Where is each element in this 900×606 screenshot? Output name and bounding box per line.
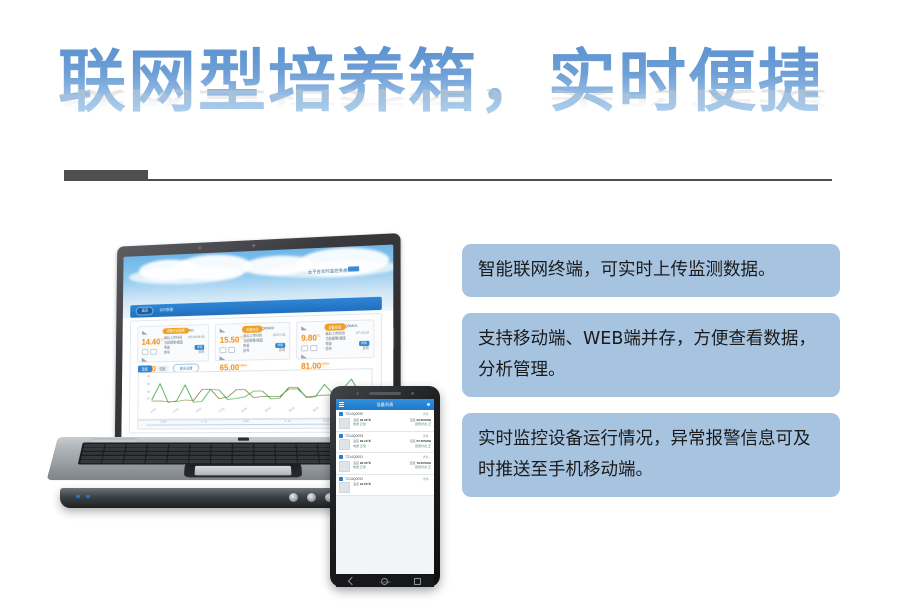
battery-label: 电量 [353,444,359,448]
front-port-group[interactable] [289,493,334,502]
temperature-icon [142,331,148,335]
temp-label: 温度 [353,482,359,486]
x-tick: 12:00 [150,407,159,417]
battery-value: 正常 [360,422,366,426]
headline-block: 联网型培养箱，实时便捷 联网型培养箱，实时便捷 [58,44,818,164]
humidity-icon [141,357,147,361]
alarm-value: 正 [428,465,431,469]
nav-item-realtime[interactable]: 实时数据 [159,308,173,313]
y-tick: 40 [147,375,150,378]
slider-label: 4. Jul [285,420,291,423]
x-tick: 21:00 [218,407,228,417]
x-tick: 00:00 [241,407,251,417]
login-button[interactable] [348,266,359,271]
slider-label: 11:00 [160,421,166,424]
proximity-sensor-icon [411,392,414,395]
device-id: TZ14Q0093 [345,434,363,438]
phone-app-bar: 设备列表 [336,399,434,410]
meta-value: 查看 [362,345,369,350]
device-card[interactable]: 14.40℃ 65.00%RH TZ14Q00A01 最后上传时间05:05:0… [137,324,210,363]
temperature-icon [220,329,226,333]
device-toggle-group[interactable] [141,348,162,354]
device-thumbnail [339,418,350,429]
device-thumbnail [339,439,350,450]
alarm-label: 报警状态 [415,422,427,426]
device-flag-icon [339,412,343,416]
list-item[interactable]: TZ14Q0092详情... 温度 24.50℃ [336,475,434,497]
device-card-readings: 15.50℃ 65.00%RH [220,327,243,357]
meta-value: 02:27:43 [273,332,285,337]
alarm-label: 报警状态 [415,444,427,448]
humidity-icon [301,354,307,358]
meta-value: 查看 [279,347,285,352]
alarm-value: 正 [428,422,431,426]
battery-value: 正常 [360,465,366,469]
speaker-grille [91,438,138,441]
front-camera-icon [356,392,359,395]
temp-value: 26.00℃ [360,461,371,465]
meta-value: 07:14:14 [356,330,369,335]
list-item[interactable]: TZ14Q0090详情... 温度 26.00℃湿度 52.00%RH 电量 正… [336,410,434,432]
battery-value: 正常 [360,444,366,448]
device-card-readings: 9.80℃ 81.00%RH [301,325,325,356]
headline-reflection: 联网型培养箱，实时便捷 [58,85,828,118]
temp-value: 24.50℃ [360,482,371,486]
phone-screen: 设备列表 TZ14Q0090详情... 温度 26.00℃湿度 52.00%RH… [336,399,434,574]
hum-value: 79.00%RH [416,461,431,465]
alarm-value: 正 [428,444,431,448]
slider-label: 3. Jul [201,421,207,424]
smartphone-illustration: 设备列表 TZ14Q0090详情... 温度 26.00℃湿度 52.00%RH… [330,386,440,587]
phone-app-title: 设备列表 [377,402,394,408]
feature-list: 智能联网终端，可实时上传监测数据。 支持移动端、WEB端并存，方便查看数据，分析… [462,244,840,513]
status-led-disk [86,495,90,498]
device-card[interactable]: 9.80℃ 81.00%RH TZ14Q00A01 最后上传时间07:14:14 [296,319,374,359]
device-flag-icon [339,455,343,459]
y-tick: 10 [147,398,150,401]
meta-key: 信号 [325,346,331,351]
webcam-icon [252,244,255,247]
y-tick: 20 [147,390,150,393]
webcam-sensor-icon [198,247,201,250]
x-tick: 06:00 [288,406,298,416]
device-flag-icon [339,477,343,481]
slider-label: 11:00 [242,421,248,424]
device-card[interactable]: 15.50℃ 65.00%RH TZ14Q00A02 最后上传时间02:27:4… [215,322,290,361]
list-item[interactable]: TZ14Q0093详情... 温度 29.10℃湿度 57.00%RH 电量 正… [336,432,434,454]
device-card-list: 14.40℃ 65.00%RH TZ14Q00A01 最后上传时间05:05:0… [137,319,374,362]
alarm-label: 报警状态 [415,465,427,469]
meta-value: 05:05:05:05 [188,335,204,340]
temp-label: 温度 [353,418,359,422]
temp-label: 温度 [353,461,359,465]
device-thumbnail [339,461,350,472]
humidity-icon [220,356,226,360]
temp-label: 温度 [353,439,359,443]
detail-link[interactable]: 详情... [422,434,431,438]
meta-value: 查看 [198,349,204,354]
hum-label: 湿度 [410,461,416,465]
divider-line [64,179,832,181]
detail-link[interactable]: 详情... [422,412,431,416]
phone-brand-label: HUAWEI [330,580,440,584]
trackpad[interactable] [184,463,302,477]
temp-value: 29.10℃ [360,439,371,443]
device-id: TZ14Q0090 [345,412,363,416]
list-item[interactable]: TZ14Q0091详情... 温度 26.00℃湿度 79.00%RH 电量 正… [336,453,434,475]
x-tick: 09:00 [312,406,322,416]
device-temperature: 15.50℃ [220,333,241,346]
hum-value: 57.00%RH [416,439,431,443]
device-temperature: 9.80℃ [301,331,323,344]
status-badge: 设备在线 [324,323,345,331]
feature-item-3: 实时监控设备运行情况，异常报警信息可及时推送至手机移动端。 [462,413,840,497]
detail-link[interactable]: 详情... [422,455,431,459]
hum-label: 湿度 [410,439,416,443]
device-temperature: 14.40℃ [142,335,163,348]
x-tick: 18:00 [195,407,204,417]
temp-value: 26.00℃ [360,418,371,422]
device-toggle-group[interactable] [220,347,241,353]
status-led-power [76,495,80,498]
meta-key: 信号 [243,348,249,353]
feature-item-2: 支持移动端、WEB端并存，方便查看数据，分析管理。 [462,313,840,397]
chart-y-axis: 40 30 20 10 [139,375,151,406]
device-toggle-group[interactable] [301,345,323,352]
device-id: TZ14Q0091 [345,455,363,459]
device-card-readings: 14.40℃ 65.00%RH [141,329,164,358]
earpiece-icon [369,392,401,395]
device-thumbnail [339,482,350,493]
detail-link[interactable]: 详情... [422,477,431,481]
feature-item-1: 智能联网终端，可实时上传监测数据。 [462,244,840,297]
y-tick: 30 [147,383,150,386]
hum-label: 湿度 [410,418,416,422]
meta-key: 信号 [164,350,170,355]
poster-root: 联网型培养箱，实时便捷 联网型培养箱，实时便捷 智能联网终端，可实时上传监测数据… [0,0,900,606]
power-button[interactable] [238,438,249,441]
battery-label: 电量 [353,422,359,426]
temperature-icon [301,326,307,330]
device-id: TZ14Q0092 [345,477,363,481]
battery-label: 电量 [353,465,359,469]
status-badge: 设备在线 [242,326,262,333]
device-flag-icon [339,434,343,438]
hum-value: 52.00%RH [416,418,431,422]
status-badge: 设备在线报警 [163,328,189,335]
hamburger-icon[interactable] [339,402,344,407]
divider-accent-block [64,170,148,181]
more-options-icon[interactable] [427,403,430,406]
slider-label: 11:00 [323,420,329,423]
x-tick: 03:00 [265,406,275,416]
nav-item-home[interactable]: 首页 [136,306,154,315]
x-tick: 15:00 [172,407,181,417]
